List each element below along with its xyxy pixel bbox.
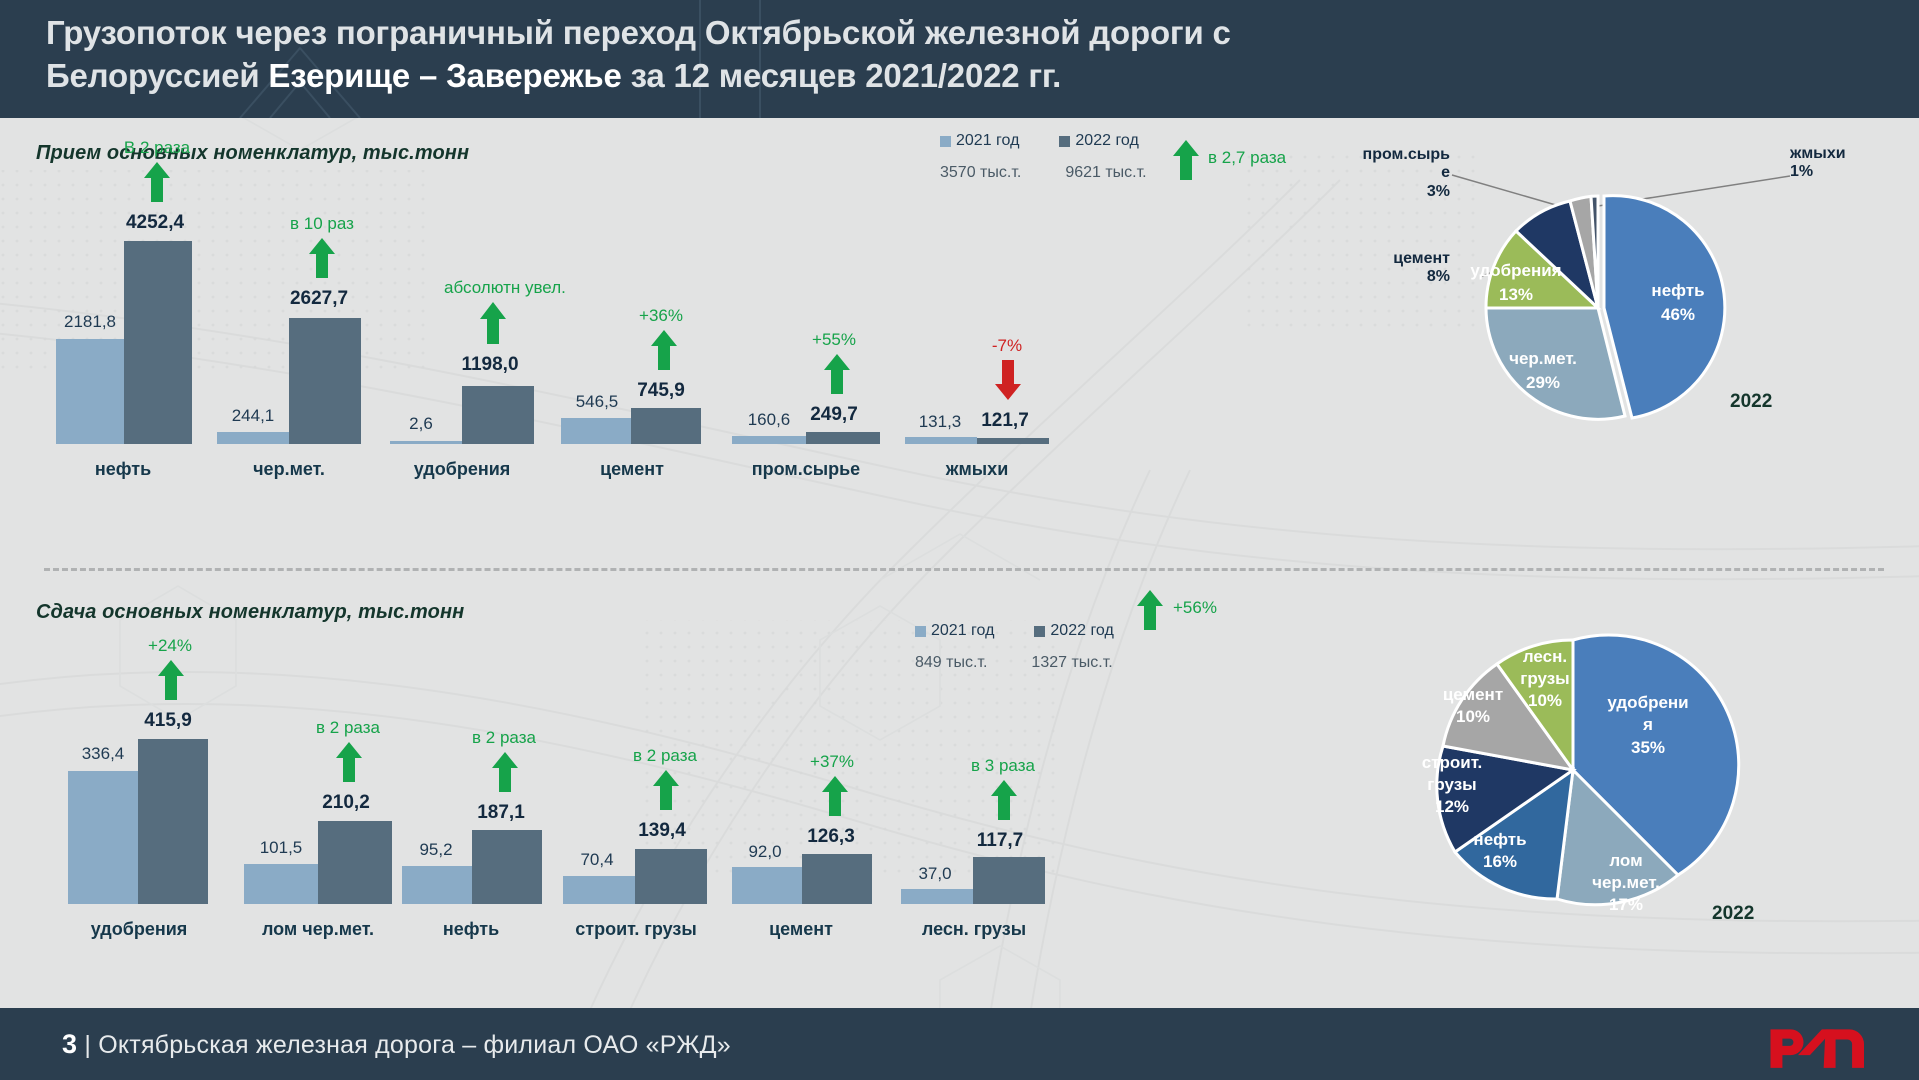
- category-label: лом чер.мет.: [230, 919, 406, 940]
- bar-2022[interactable]: [631, 408, 701, 444]
- bar-2021[interactable]: [901, 889, 973, 904]
- value-2022: 415,9: [122, 710, 214, 732]
- trend-arrow-up-icon: [653, 770, 679, 810]
- title-line-2c: за 12 месяцев 2021/2022 гг.: [622, 57, 1061, 94]
- pie-label-neft: нефть: [1473, 830, 1526, 849]
- dispatch-pie-year: 2022: [1712, 903, 1754, 925]
- trend-arrow-down-icon: [995, 360, 1021, 400]
- bar-2021[interactable]: [561, 418, 631, 444]
- delta-label: +24%: [122, 636, 218, 656]
- value-2022: 117,7: [955, 830, 1045, 852]
- pie-value-stroit-gruzy: 12%: [1435, 797, 1469, 816]
- delta-label: абсолютн увел.: [444, 278, 544, 298]
- bar-2021[interactable]: [56, 339, 124, 444]
- value-2021: 244,1: [209, 406, 297, 426]
- bar-group-lom-chermet: 101,5 210,2 в 2 раза лом чер.мет.: [230, 620, 406, 940]
- delta-label: в 2 раза: [454, 728, 554, 748]
- bar-2022[interactable]: [318, 821, 392, 904]
- value-2021: 336,4: [58, 744, 148, 764]
- pie-label-stroit-gruzy-cont: грузы: [1427, 775, 1476, 794]
- title-crossing-name: Езерище – Завережье: [268, 57, 621, 94]
- pie-value-lesn-gruzy: 10%: [1528, 691, 1562, 710]
- trend-arrow-up-icon: [158, 660, 184, 700]
- pie-value-neft: 16%: [1483, 852, 1517, 871]
- dispatch-bar-chart: 336,4 415,9 +24% удобрения 101,5 210,2 в…: [0, 610, 1290, 940]
- category-label: пром.сырье: [718, 459, 894, 480]
- legend-label-2021: 2021 год: [956, 132, 1019, 150]
- delta-label: -7%: [959, 336, 1055, 356]
- bar-2022[interactable]: [973, 857, 1045, 904]
- trend-arrow-up-icon: [144, 162, 170, 202]
- dispatch-pie-chart: удобрени я 35% лом чер.мет. 17% нефть 16…: [1360, 590, 1919, 970]
- value-2021: 101,5: [238, 838, 324, 858]
- trend-arrow-up-icon: [651, 330, 677, 370]
- bar-group-udobreniya: 2,6 1198,0 абсолютн увел. удобрения: [378, 160, 546, 480]
- value-2022: 126,3: [786, 826, 876, 848]
- pie-label-chermet: чер.мет.: [1509, 349, 1577, 368]
- trend-arrow-up-icon: [822, 776, 848, 816]
- bar-2021[interactable]: [390, 441, 462, 444]
- value-2022: 2627,7: [273, 288, 365, 310]
- pie-value-chermet: 29%: [1526, 373, 1560, 392]
- bar-2022[interactable]: [124, 241, 192, 444]
- delta-label: +55%: [786, 330, 882, 350]
- title-line-2a: Белоруссией: [46, 57, 268, 94]
- bar-2022[interactable]: [802, 854, 872, 904]
- bar-2022[interactable]: [977, 438, 1049, 444]
- rzd-logo-icon: [1765, 1022, 1875, 1068]
- trend-arrow-up-icon: [336, 742, 362, 782]
- value-2022: 121,7: [959, 410, 1051, 432]
- pie-value-cement: 10%: [1456, 707, 1490, 726]
- legend-item-2021: 2021 год: [940, 132, 1019, 150]
- bar-2022[interactable]: [138, 739, 208, 904]
- legend-label-2022: 2022 год: [1075, 132, 1138, 150]
- category-label: чер.мет.: [205, 459, 373, 480]
- legend-swatch-2022-icon: [1059, 136, 1070, 147]
- category-label: жмыхи: [893, 459, 1061, 480]
- trend-arrow-up-icon: [991, 780, 1017, 820]
- reception-pie-chart: нефть 46% чер.мет. 29% удобрения 13% про…: [1330, 128, 1919, 458]
- category-label: удобрения: [378, 459, 546, 480]
- pie-value-udobreniya: 13%: [1499, 285, 1533, 304]
- pie-label-cement: цемент: [1443, 685, 1503, 704]
- pie-label-stroit-gruzy: строит.: [1422, 753, 1483, 772]
- bar-2021[interactable]: [732, 436, 806, 444]
- trend-arrow-up-icon: [492, 752, 518, 792]
- value-2021: 70,4: [555, 850, 639, 870]
- bar-2022[interactable]: [462, 386, 534, 444]
- value-2022: 249,7: [788, 404, 880, 426]
- pie-label-udobreniya: удобрения: [1470, 261, 1561, 280]
- pie-label-udobreniya: удобрени: [1607, 693, 1688, 712]
- pie-label-neft: нефть: [1651, 281, 1704, 300]
- pie-label-lom-chermet: лом: [1609, 851, 1642, 870]
- reception-pie-year: 2022: [1730, 391, 1772, 413]
- bar-group-neft: 2181,8 4252,4 В 2 раза нефть: [48, 160, 198, 480]
- pie-value-neft: 46%: [1661, 305, 1695, 324]
- page-title: Грузопоток через пограничный переход Окт…: [46, 12, 1746, 98]
- bar-2022[interactable]: [806, 432, 880, 444]
- bar-group-cement: 92,0 126,3 +37% цемент: [720, 620, 882, 940]
- category-label: строит. грузы: [545, 919, 727, 940]
- bar-group-stroit-gruzy: 70,4 139,4 в 2 раза строит. грузы: [545, 620, 727, 940]
- category-label: цемент: [551, 459, 713, 480]
- pie-label-lesn-gruzy-cont: грузы: [1520, 669, 1569, 688]
- delta-label: в 2 раза: [296, 718, 400, 738]
- delta-label: +37%: [784, 752, 880, 772]
- slide-footer: 3 | Октябрьская железная дорога – филиал…: [0, 1008, 1919, 1080]
- pie-callout-cement: цемент 8%: [1340, 250, 1450, 287]
- bar-group-cement: 546,5 745,9 +36% цемент: [551, 160, 713, 480]
- page-number: 3: [62, 1029, 77, 1059]
- footer-separator: |: [84, 1031, 91, 1059]
- delta-label: +36%: [613, 306, 709, 326]
- bar-group-udobreniya: 336,4 415,9 +24% удобрения: [58, 620, 220, 940]
- bar-group-lesn-gruzy: 37,0 117,7 в 3 раза лесн. грузы: [885, 620, 1063, 940]
- trend-arrow-up-icon: [824, 354, 850, 394]
- category-label: удобрения: [58, 919, 220, 940]
- bar-2021[interactable]: [244, 864, 318, 904]
- value-2021: 95,2: [394, 840, 478, 860]
- bar-group-chermet: 244,1 2627,7 в 10 раз чер.мет.: [205, 160, 373, 480]
- delta-label: в 3 раза: [953, 756, 1053, 776]
- value-2022: 210,2: [300, 792, 392, 814]
- pie-label-udobreniya-cont: я: [1642, 715, 1653, 734]
- bar-2021[interactable]: [563, 876, 635, 904]
- reception-bar-chart: 2181,8 4252,4 В 2 раза нефть 244,1 2627,…: [0, 150, 1300, 480]
- pie-value-udobreniya: 35%: [1631, 738, 1665, 757]
- bar-group-promsyrye: 160,6 249,7 +55% пром.сырье: [718, 160, 894, 480]
- value-2022: 139,4: [617, 820, 707, 842]
- footer-caption: 3 | Октябрьская железная дорога – филиал…: [62, 1029, 731, 1060]
- value-2022: 745,9: [615, 380, 707, 402]
- pie-value-lom-chermet: 17%: [1609, 895, 1643, 914]
- category-label: нефть: [48, 459, 198, 480]
- delta-label: В 2 раза: [107, 138, 207, 158]
- legend-swatch-2021-icon: [940, 136, 951, 147]
- bar-2022[interactable]: [289, 318, 361, 444]
- value-2022: 1198,0: [442, 354, 538, 376]
- section-divider: [44, 568, 1884, 571]
- bar-2022[interactable]: [472, 830, 542, 904]
- bar-2021[interactable]: [732, 867, 802, 904]
- delta-label: в 2 раза: [615, 746, 715, 766]
- value-2021: 37,0: [893, 864, 977, 884]
- dispatch-pie-svg: удобрени я 35% лом чер.мет. 17% нефть 16…: [1360, 590, 1919, 970]
- category-label: нефть: [390, 919, 552, 940]
- legend-item-2022: 2022 год: [1059, 132, 1138, 150]
- value-2021: 2,6: [384, 414, 458, 434]
- trend-arrow-up-icon: [480, 302, 506, 344]
- category-label: лесн. грузы: [885, 919, 1063, 940]
- delta-label: в 10 раз: [272, 214, 372, 234]
- bar-2022[interactable]: [635, 849, 707, 904]
- bar-2021[interactable]: [217, 432, 289, 444]
- bar-2021[interactable]: [402, 866, 472, 904]
- bar-2021[interactable]: [905, 437, 977, 444]
- pie-callout-zhmykhi: жмыхи 1%: [1790, 145, 1910, 182]
- footer-org: Октябрьская железная дорога – филиал ОАО…: [98, 1031, 731, 1059]
- category-label: цемент: [720, 919, 882, 940]
- pie-callout-promsyrye: пром.сырь е 3%: [1320, 146, 1450, 201]
- trend-arrow-up-icon: [309, 238, 335, 278]
- bar-2021[interactable]: [68, 771, 138, 904]
- pie-label-lesn-gruzy: лесн.: [1523, 647, 1567, 666]
- pie-label-lom-chermet-cont: чер.мет.: [1592, 873, 1660, 892]
- value-2022: 187,1: [456, 802, 546, 824]
- slide-header: Грузопоток через пограничный переход Окт…: [0, 0, 1919, 118]
- bar-group-zhmykhi: 131,3 121,7 -7% жмыхи: [893, 160, 1061, 480]
- title-line-1: Грузопоток через пограничный переход Окт…: [46, 14, 1231, 51]
- value-2022: 4252,4: [110, 212, 200, 234]
- value-2021: 2181,8: [46, 312, 134, 332]
- slide-root: Грузопоток через пограничный переход Окт…: [0, 0, 1919, 1080]
- bar-group-neft: 95,2 187,1 в 2 раза нефть: [390, 620, 552, 940]
